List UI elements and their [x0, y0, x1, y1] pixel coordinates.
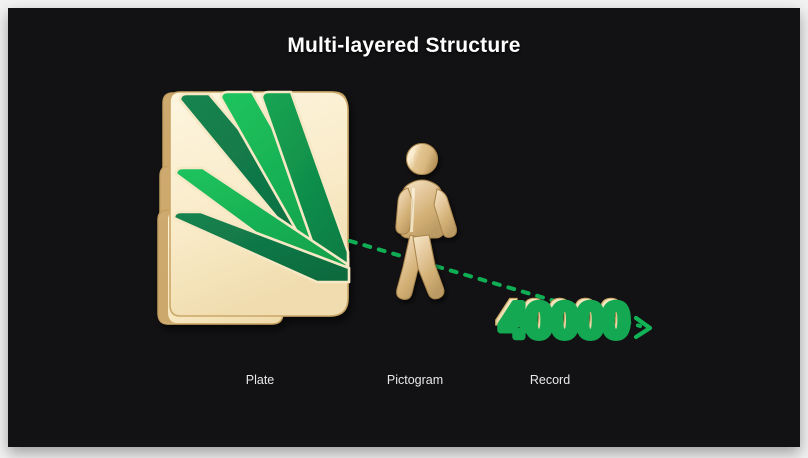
- caption-record: Record: [530, 373, 570, 387]
- walking-person-pictogram[interactable]: [396, 144, 457, 300]
- plate-graphic[interactable]: [158, 92, 349, 324]
- record-number-graphic[interactable]: 40000 40000: [495, 290, 628, 348]
- page-root: Multi-layered Structure: [0, 0, 808, 458]
- pictogram-head: [407, 144, 438, 175]
- record-number-value: 40000: [500, 295, 628, 348]
- caption-pictogram: Pictogram: [387, 373, 443, 387]
- presentation-slide: Multi-layered Structure: [8, 8, 800, 447]
- caption-plate: Plate: [246, 373, 275, 387]
- caption-row: Plate Pictogram Record: [8, 373, 800, 401]
